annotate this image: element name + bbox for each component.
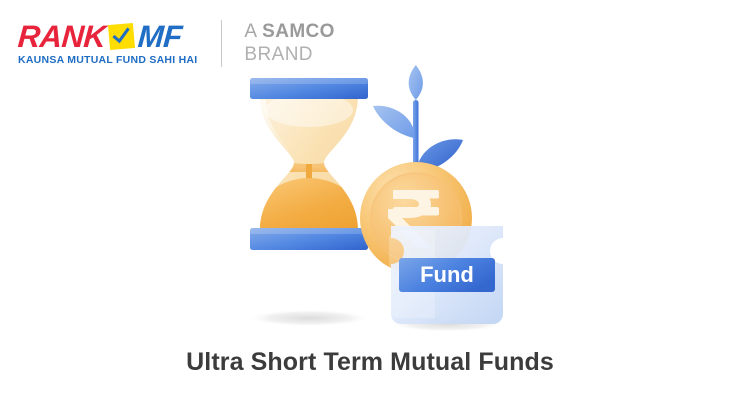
hourglass-shadow bbox=[247, 310, 371, 327]
samco-brand-line-1: A SAMCO bbox=[244, 20, 334, 43]
logo-text-rank: RANK bbox=[17, 21, 107, 52]
logo-text-mf: MF bbox=[136, 21, 182, 52]
rankmf-wordmark: RANK MF bbox=[18, 21, 181, 52]
fund-label-text: Fund bbox=[420, 262, 474, 287]
hero-illustration: Fund bbox=[225, 60, 530, 335]
page-root: RANK MF KAUNSA MUTUAL FUND SAHI HAI A SA… bbox=[0, 0, 740, 400]
samco-brand-name: SAMCO bbox=[262, 21, 335, 42]
fund-bag-icon: Fund bbox=[389, 226, 503, 324]
logo-tagline: KAUNSA MUTUAL FUND SAHI HAI bbox=[18, 54, 197, 66]
hourglass-icon bbox=[247, 78, 371, 250]
rankmf-logo[interactable]: RANK MF KAUNSA MUTUAL FUND SAHI HAI bbox=[18, 21, 197, 66]
page-title: Ultra Short Term Mutual Funds bbox=[0, 348, 740, 377]
brand-divider bbox=[221, 20, 222, 67]
samco-brand-prefix: A bbox=[244, 21, 262, 42]
check-icon bbox=[108, 22, 135, 49]
sprout-bud-leaf bbox=[409, 65, 423, 100]
sprout-left-leaf bbox=[373, 106, 414, 138]
